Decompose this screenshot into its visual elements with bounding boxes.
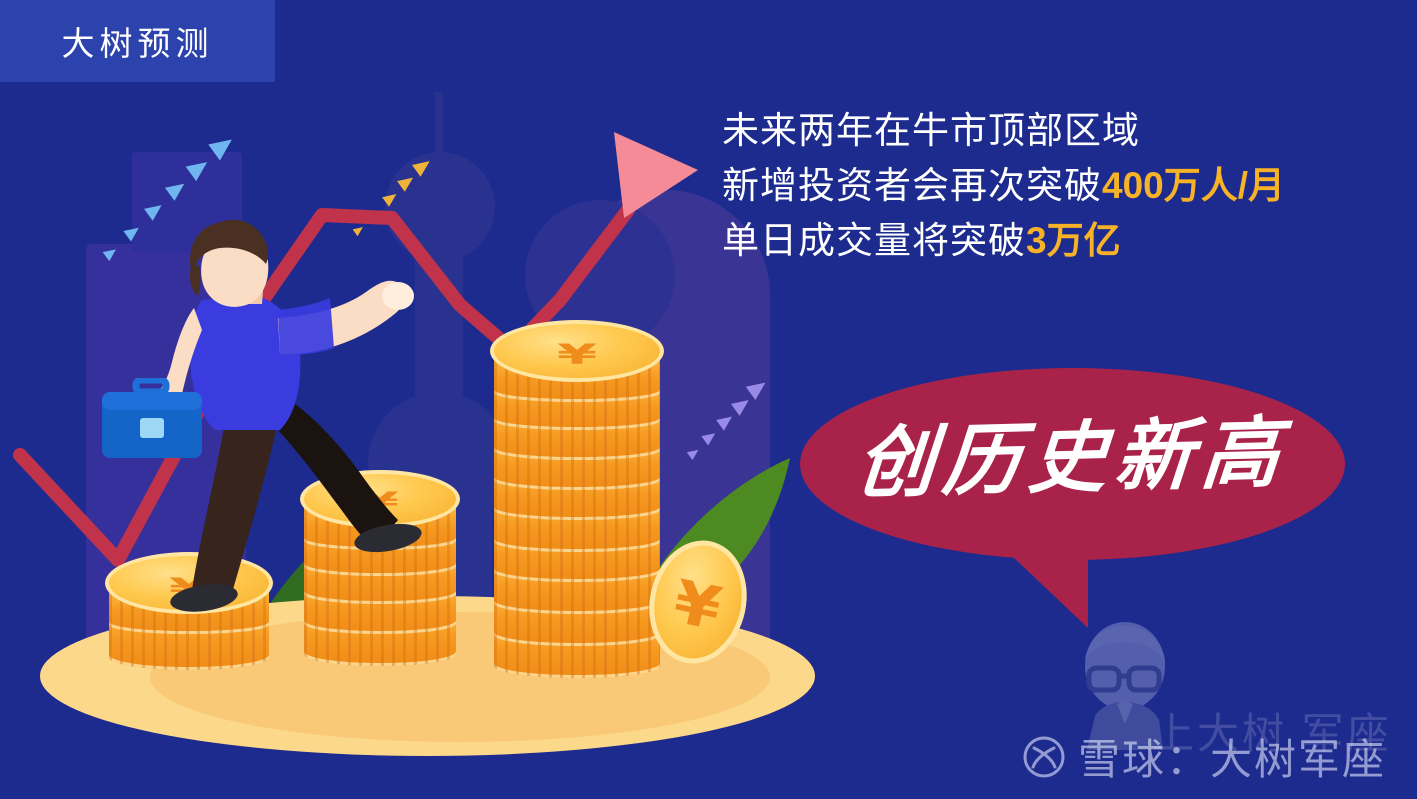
headline-line-3-highlight: 3万亿 (1026, 220, 1121, 261)
coin-stack-tall: ¥ (490, 320, 664, 680)
coin-yen-symbol: ¥ (490, 338, 664, 371)
watermark-bar: 雪球：大树军座 (1022, 726, 1386, 787)
headline-line-2: 新增投资者会再次突破400万人/月 (722, 159, 1402, 214)
headline-line-3: 单日成交量将突破3万亿 (722, 214, 1402, 269)
coin-yen-symbol: ¥ (648, 563, 747, 649)
xueqiu-logo-icon (1022, 735, 1066, 779)
briefcase-icon (100, 378, 204, 464)
headline-line-2-highlight: 400万人/月 (1102, 165, 1285, 206)
speech-bubble: 创历史新高 (800, 368, 1360, 638)
poster-canvas: ¥ ¥ ¥ ¥ (0, 0, 1417, 799)
watermark-brand-text: 雪球：大树军座 (1078, 726, 1386, 787)
brand-badge-label: 大树预测 (62, 17, 214, 65)
brand-badge[interactable]: 大树预测 (0, 0, 275, 82)
headline-block: 未来两年在牛市顶部区域 新增投资者会再次突破400万人/月 单日成交量将突破3万… (722, 104, 1402, 268)
headline-line-2-prefix: 新增投资者会再次突破 (722, 165, 1102, 206)
speech-bubble-text: 创历史新高 (795, 389, 1350, 515)
headline-line-3-prefix: 单日成交量将突破 (722, 220, 1026, 261)
headline-line-1: 未来两年在牛市顶部区域 (722, 104, 1402, 159)
